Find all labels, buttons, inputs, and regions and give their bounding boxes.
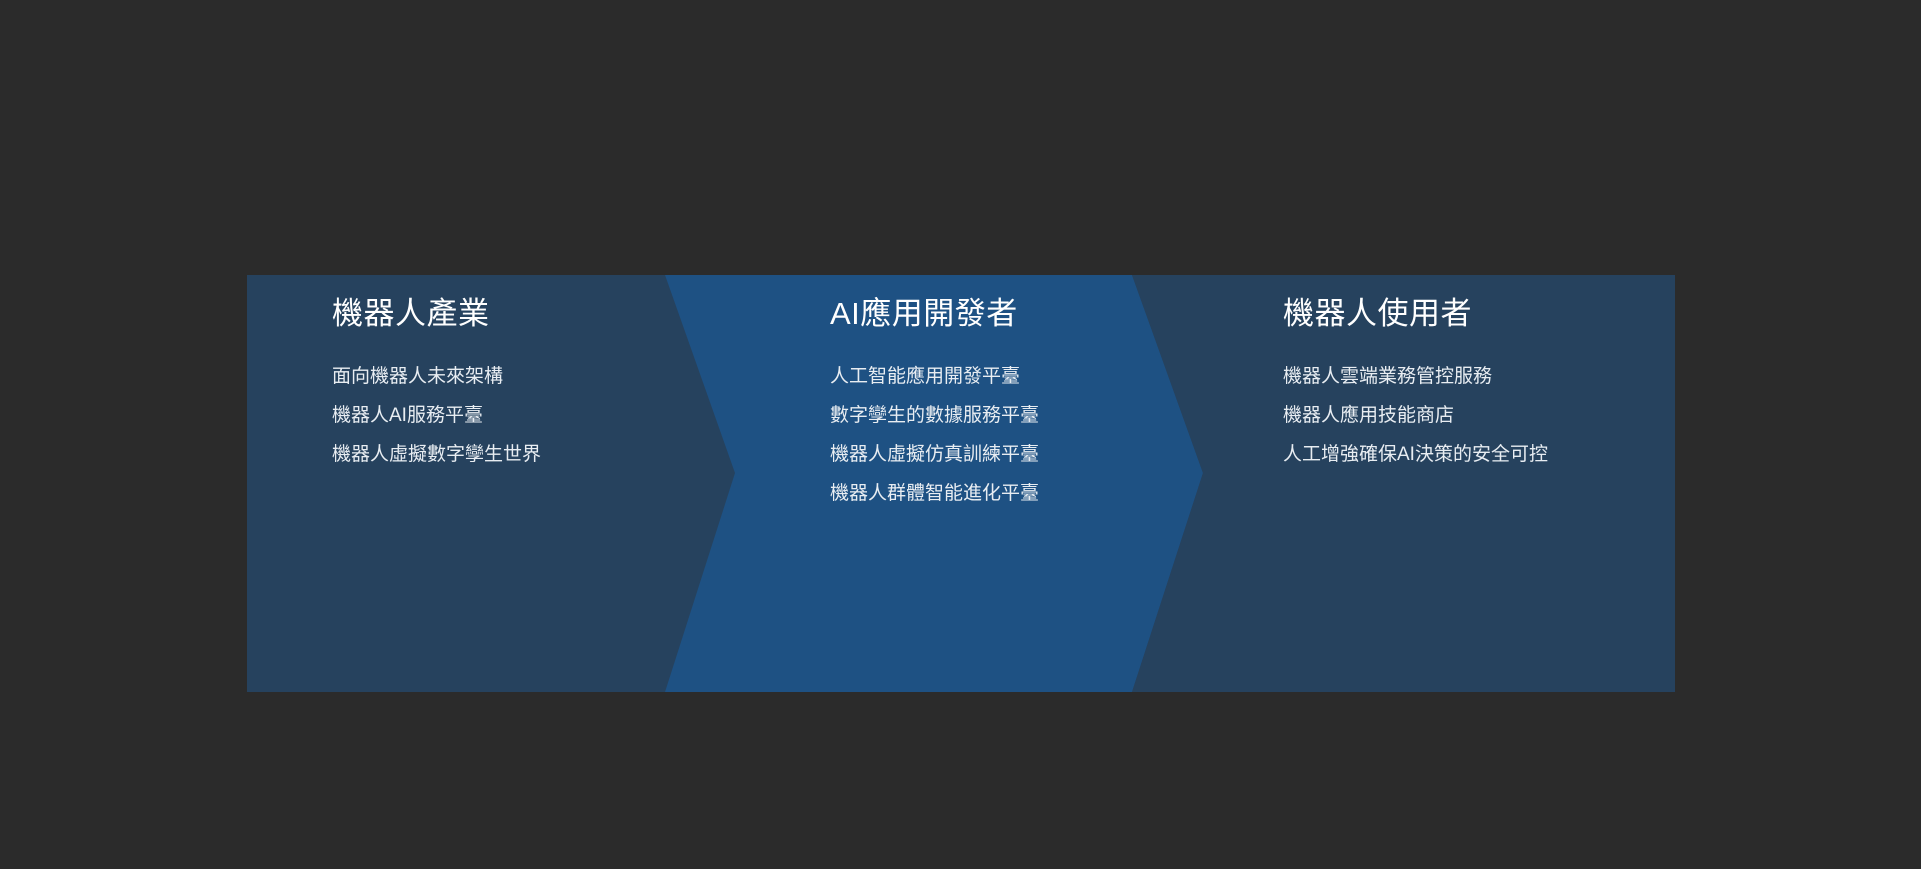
slide-canvas: 機器人產業 面向機器人未來架構 機器人AI服務平臺 機器人虛擬數字孿生世界 AI… bbox=[0, 0, 1921, 869]
chevron-stage-2: AI應用開發者 人工智能應用開發平臺 數字孿生的數據服務平臺 機器人虛擬仿真訓練… bbox=[830, 275, 1230, 692]
stage-1-heading: 機器人產業 bbox=[332, 294, 490, 334]
list-item: 機器人應用技能商店 bbox=[1283, 396, 1548, 435]
list-item: 人工智能應用開發平臺 bbox=[830, 357, 1039, 396]
list-item: 機器人虛擬數字孿生世界 bbox=[332, 435, 541, 474]
list-item: 人工增強確保AI決策的安全可控 bbox=[1283, 435, 1548, 474]
stage-3-item-list: 機器人雲端業務管控服務 機器人應用技能商店 人工增強確保AI決策的安全可控 bbox=[1283, 357, 1548, 474]
stage-1-item-list: 面向機器人未來架構 機器人AI服務平臺 機器人虛擬數字孿生世界 bbox=[332, 357, 541, 474]
stage-2-item-list: 人工智能應用開發平臺 數字孿生的數據服務平臺 機器人虛擬仿真訓練平臺 機器人群體… bbox=[830, 357, 1039, 513]
chevron-stage-3: 機器人使用者 機器人雲端業務管控服務 機器人應用技能商店 人工增強確保AI決策的… bbox=[1283, 275, 1675, 692]
stage-3-heading: 機器人使用者 bbox=[1283, 294, 1472, 334]
list-item: 機器人AI服務平臺 bbox=[332, 396, 541, 435]
stage-2-heading: AI應用開發者 bbox=[830, 294, 1018, 334]
list-item: 面向機器人未來架構 bbox=[332, 357, 541, 396]
three-stage-chevron-banner: 機器人產業 面向機器人未來架構 機器人AI服務平臺 機器人虛擬數字孿生世界 AI… bbox=[247, 275, 1675, 692]
list-item: 機器人雲端業務管控服務 bbox=[1283, 357, 1548, 396]
list-item: 機器人虛擬仿真訓練平臺 bbox=[830, 435, 1039, 474]
chevron-stage-1: 機器人產業 面向機器人未來架構 機器人AI服務平臺 機器人虛擬數字孿生世界 bbox=[332, 275, 732, 692]
list-item: 機器人群體智能進化平臺 bbox=[830, 474, 1039, 513]
list-item: 數字孿生的數據服務平臺 bbox=[830, 396, 1039, 435]
